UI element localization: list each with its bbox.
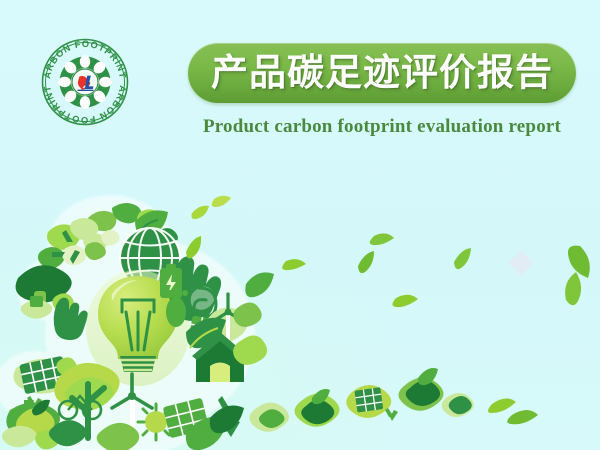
page-title: 产品碳足迹评价报告	[211, 54, 553, 93]
eco-icon-footprint-collage	[0, 160, 600, 450]
report-subtitle: Product carbon footprint evaluation repo…	[188, 116, 576, 138]
cover-header: CARBON FOOTPRINT · CARBON FOOTPRINT ·	[0, 0, 600, 160]
report-cover-page: CARBON FOOTPRINT · CARBON FOOTPRINT ·	[0, 0, 600, 450]
footprint-toe-icon-cluster	[250, 368, 474, 432]
report-title-banner: 产品碳足迹评价报告	[188, 43, 576, 103]
carbon-footprint-seal-logo: CARBON FOOTPRINT · CARBON FOOTPRINT ·	[41, 38, 129, 126]
